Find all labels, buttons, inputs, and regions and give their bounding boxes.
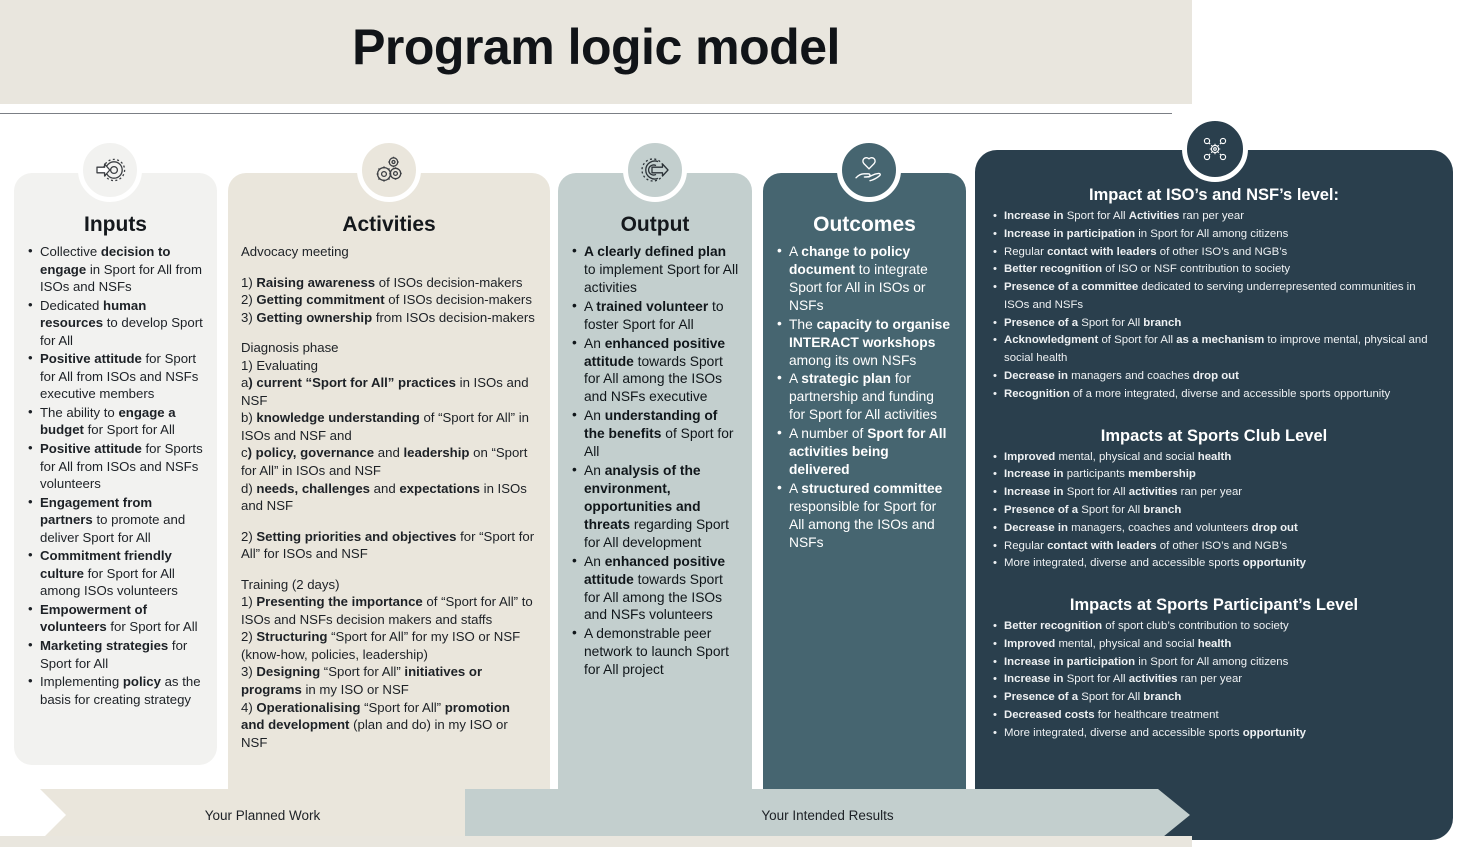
list-item: Recognition of a more integrated, divers… xyxy=(991,386,1437,404)
list-item: Decreased costs for healthcare treatment xyxy=(991,707,1437,725)
list-item: A demonstrable peer network to launch Sp… xyxy=(571,625,739,679)
impact-section-heading: Impacts at Sports Club Level xyxy=(991,427,1437,446)
column-outcomes[interactable]: Outcomes A change to policy document to … xyxy=(763,173,966,830)
list-item: Positive attitude for Sport for All from… xyxy=(27,350,204,403)
list-item: The ability to engage a budget for Sport… xyxy=(27,404,204,439)
spacer xyxy=(241,515,537,528)
list-item: Regular contact with leaders of other IS… xyxy=(991,244,1437,262)
banner-intended-results: Your Intended Results xyxy=(465,789,1190,841)
list-item: Regular contact with leaders of other IS… xyxy=(991,538,1437,556)
list-item: Acknowledgment of Sport for All as a mec… xyxy=(991,332,1437,368)
list-item: An understanding of the benefits of Spor… xyxy=(571,407,739,461)
list-item: Presence of a Sport for All branch xyxy=(991,315,1437,333)
activities-line: 2) Getting commitment of ISOs decision-m… xyxy=(241,291,537,309)
output-bullet-list: A clearly defined plan to implement Spor… xyxy=(571,243,739,679)
list-item: A number of Sport for All activities bei… xyxy=(776,425,953,479)
list-item: A trained volunteer to foster Sport for … xyxy=(571,298,739,334)
network-nodes-icon xyxy=(1182,116,1248,182)
activities-line: Diagnosis phase xyxy=(241,339,537,357)
impact-bullet-list: Better recognition of sport club’s contr… xyxy=(991,618,1437,742)
list-item: Increase in participants membership xyxy=(991,466,1437,484)
banner-arrow: Your Planned Work Your Intended Results xyxy=(40,789,1190,841)
activities-line: a) current “Sport for All” practices in … xyxy=(241,374,537,409)
activities-line: 1) Presenting the importance of “Sport f… xyxy=(241,593,537,628)
list-item: Increase in participation in Sport for A… xyxy=(991,226,1437,244)
page-title: Program logic model xyxy=(0,18,1192,76)
list-item: Decrease in managers, coaches and volunt… xyxy=(991,520,1437,538)
header-divider xyxy=(0,113,1172,114)
list-item: A change to policy document to integrate… xyxy=(776,243,953,315)
banner-planned-work: Your Planned Work xyxy=(40,789,465,841)
list-item: Implementing policy as the basis for cre… xyxy=(27,673,204,708)
activities-line: 2) Structuring “Sport for All” for my IS… xyxy=(241,628,537,663)
list-item: Improved mental, physical and social hea… xyxy=(991,636,1437,654)
bottom-strip xyxy=(0,836,1192,847)
activities-line: 2) Setting priorities and objectives for… xyxy=(241,528,537,563)
column-activities[interactable]: Activities Advocacy meeting1) Raising aw… xyxy=(228,173,550,810)
banner-results-label: Your Intended Results xyxy=(761,808,893,823)
spacer xyxy=(241,563,537,576)
activities-line: c) policy, governance and leadership on … xyxy=(241,444,537,479)
list-item: More integrated, diverse and accessible … xyxy=(991,555,1437,573)
outcomes-bullet-list: A change to policy document to integrate… xyxy=(776,243,953,552)
activities-text-block: Advocacy meeting1) Raising awareness of … xyxy=(241,243,537,751)
banner-planned-label: Your Planned Work xyxy=(185,808,321,823)
panel-impact[interactable]: Impact at ISO’s and NSF’s level:Increase… xyxy=(975,150,1453,840)
activities-line: 1) Evaluating xyxy=(241,357,537,375)
activities-line: 3) Designing “Sport for All” initiatives… xyxy=(241,663,537,698)
list-item: Increase in participation in Sport for A… xyxy=(991,654,1437,672)
list-item: A strategic plan for partnership and fun… xyxy=(776,370,953,424)
list-item: Decrease in managers and coaches drop ou… xyxy=(991,368,1437,386)
list-item: An analysis of the environment, opportun… xyxy=(571,462,739,552)
column-output[interactable]: Output A clearly defined plan to impleme… xyxy=(558,173,752,830)
activities-line: 4) Operationalising “Sport for All” prom… xyxy=(241,699,537,752)
list-item: Presence of a committee dedicated to ser… xyxy=(991,279,1437,315)
impact-bullet-list: Increase in Sport for All Activities ran… xyxy=(991,208,1437,404)
heart-in-hand-icon xyxy=(837,138,901,202)
list-item: Commitment friendly culture for Sport fo… xyxy=(27,547,204,600)
spacer xyxy=(241,261,537,274)
list-item: Presence of a Sport for All branch xyxy=(991,689,1437,707)
list-item: Increase in Sport for All activities ran… xyxy=(991,671,1437,689)
list-item: Increase in Sport for All Activities ran… xyxy=(991,208,1437,226)
list-item: Better recognition of ISO or NSF contrib… xyxy=(991,261,1437,279)
list-item: An enhanced positive attitude towards Sp… xyxy=(571,553,739,625)
impact-section-heading: Impact at ISO’s and NSF’s level: xyxy=(991,186,1437,205)
impact-section-heading: Impacts at Sports Participant’s Level xyxy=(991,596,1437,615)
inputs-bullet-list: Collective decision to engage in Sport f… xyxy=(27,243,204,708)
activities-line: d) needs, challenges and expectations in… xyxy=(241,480,537,515)
list-item: Increase in Sport for All activities ran… xyxy=(991,484,1437,502)
list-item: Collective decision to engage in Sport f… xyxy=(27,243,204,296)
list-item: The capacity to organise INTERACT worksh… xyxy=(776,316,953,370)
logic-model-board: Inputs Collective decision to engage in … xyxy=(0,118,1467,738)
activities-line: 1) Raising awareness of ISOs decision-ma… xyxy=(241,274,537,292)
activities-line: Training (2 days) xyxy=(241,576,537,594)
gear-with-arrow-out-icon xyxy=(623,138,687,202)
list-item: Presence of a Sport for All branch xyxy=(991,502,1437,520)
list-item: Empowerment of volunteers for Sport for … xyxy=(27,601,204,636)
activities-line: b) knowledge understanding of “Sport for… xyxy=(241,409,537,444)
list-item: Improved mental, physical and social hea… xyxy=(991,449,1437,467)
list-item: A clearly defined plan to implement Spor… xyxy=(571,243,739,297)
activities-line: 3) Getting ownership from ISOs decision-… xyxy=(241,309,537,327)
list-item: Dedicated human resources to develop Spo… xyxy=(27,297,204,350)
list-item: Better recognition of sport club’s contr… xyxy=(991,618,1437,636)
spacer xyxy=(241,326,537,339)
list-item: Marketing strategies for Sport for All xyxy=(27,637,204,672)
impact-bullet-list: Improved mental, physical and social hea… xyxy=(991,449,1437,573)
arrow-into-gear-icon xyxy=(78,138,142,202)
activities-line: Advocacy meeting xyxy=(241,243,537,261)
gears-icon xyxy=(357,138,421,202)
impact-content: Impact at ISO’s and NSF’s level:Increase… xyxy=(975,150,1453,753)
list-item: Positive attitude for Sports for All fro… xyxy=(27,440,204,493)
list-item: More integrated, diverse and accessible … xyxy=(991,725,1437,743)
list-item: Engagement from partners to promote and … xyxy=(27,494,204,547)
program-logic-model-page: Program logic model Inputs Collective de… xyxy=(0,0,1467,847)
list-item: An enhanced positive attitude towards Sp… xyxy=(571,335,739,407)
column-inputs[interactable]: Inputs Collective decision to engage in … xyxy=(14,173,217,765)
list-item: A structured committee responsible for S… xyxy=(776,480,953,552)
